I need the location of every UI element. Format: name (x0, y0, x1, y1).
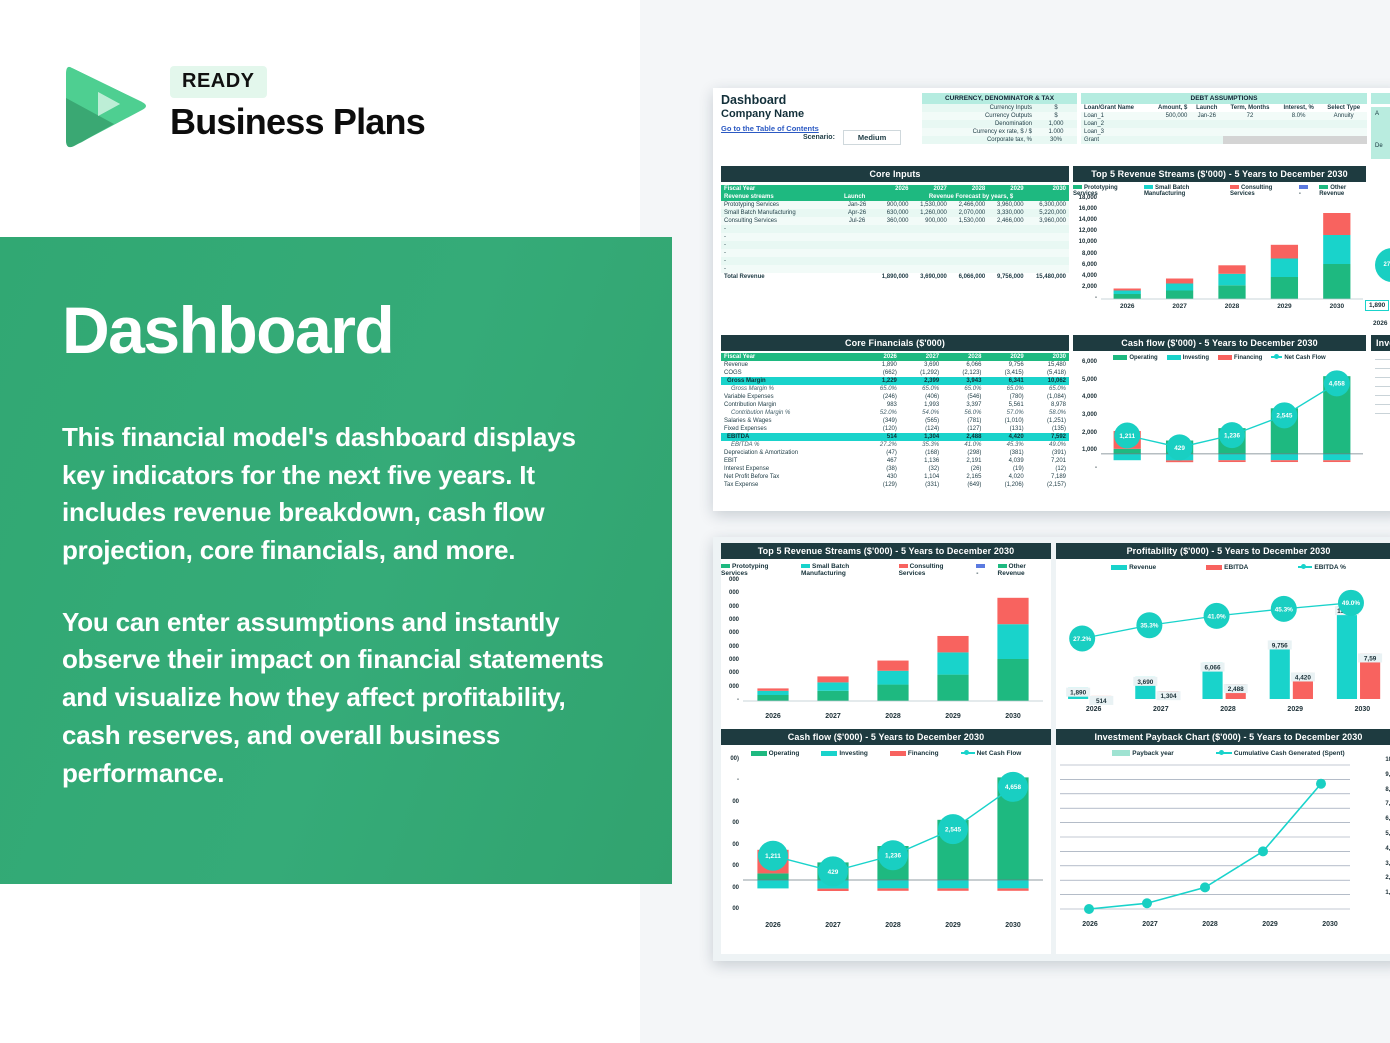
svg-text:2,545: 2,545 (1276, 413, 1292, 420)
cell: (298) (942, 449, 984, 457)
chart-plot-cashflow-2: 00)-000000000000 1,2114291,2362,5454,658… (721, 760, 1051, 945)
axis-tick: 12,000 (1079, 228, 1097, 234)
core-financials-table: Fiscal Year 2026 2027 2028 2029 2030 Rev… (721, 353, 1069, 489)
cell: 49.0% (1027, 441, 1069, 449)
core-financials-title: Core Financials ($'000) (721, 335, 1069, 351)
axis-tick: 2,000 (1082, 430, 1097, 436)
cell: 2,165 (942, 473, 984, 481)
year-col: 2026 (861, 353, 900, 361)
hero-panel: Dashboard This financial model's dashboa… (0, 237, 672, 884)
cell: (1,292) (900, 369, 942, 377)
axis-tick: 18,000 (1079, 195, 1097, 201)
table-row[interactable]: COGS(662)(1,292)(2,123)(3,415)(5,418) (721, 369, 1069, 377)
axis-tick: 00 (732, 799, 739, 805)
year-col: 2026 (873, 185, 911, 193)
table-row[interactable]: Depreciation & Amortization(47)(168)(298… (721, 449, 1069, 457)
svg-text:514: 514 (1096, 698, 1107, 705)
ss-title: Dashboard (721, 94, 819, 108)
row-label: Revenue (721, 361, 861, 369)
cur-value[interactable]: $ (1035, 104, 1077, 112)
cell: (131) (984, 425, 1026, 433)
cell: (129) (861, 481, 900, 489)
cell: 1,104 (900, 473, 942, 481)
cell: 45.3% (984, 441, 1026, 449)
axis-tick: 000 (729, 684, 739, 690)
debt-table: Loan/Grant Name Amount, $ Launch Term, M… (1081, 104, 1367, 144)
cell: (38) (861, 465, 900, 473)
cell: (1,251) (1027, 417, 1069, 425)
currency-table: Currency Inputs$ Currency Outputs$ Denom… (922, 104, 1077, 144)
core-inputs-title: Core Inputs (721, 166, 1069, 182)
table-row[interactable]: EBITDA5141,3042,4884,4207,592 (721, 433, 1069, 441)
cell: (32) (900, 465, 942, 473)
axis-label: 2030 (1300, 921, 1360, 928)
table-row[interactable]: - (721, 257, 1069, 265)
axis-tick: 8,000 (1082, 251, 1097, 257)
legend-item: Cumulative Cash Generated (Spent) (1216, 750, 1345, 757)
cell: 8,978 (1027, 401, 1069, 409)
axis-tick: 3,00 (1385, 861, 1390, 867)
core-inputs-table: Fiscal Year 2026 2027 2028 2029 2030 Rev… (721, 185, 1069, 281)
cell: (662) (861, 369, 900, 377)
debt-row[interactable]: Loan_1 500,000 Jan-26 72 8.0% Annuity (1081, 112, 1367, 120)
legend-item: Payback year (1112, 750, 1174, 757)
axis-tick: 1,00 (1385, 890, 1390, 896)
year-col: 2027 (900, 353, 942, 361)
axis-tick: - (737, 697, 739, 703)
axis-tick: 00 (732, 885, 739, 891)
chart-plot-cashflow: 6,0005,0004,0003,0002,0001,000- 1,211429… (1073, 363, 1366, 493)
cell: 1,890 (861, 361, 900, 369)
cell: 630,000 (873, 209, 911, 217)
axis-tick: 2,00 (1385, 875, 1390, 881)
stream-name: - (721, 241, 841, 249)
table-row[interactable]: Revenue1,8903,6906,0669,75615,480 (721, 361, 1069, 369)
legend-item: Prototyping Services (721, 563, 792, 577)
svg-text:1,211: 1,211 (765, 853, 781, 860)
axis-label: 2027 (803, 713, 863, 720)
table-row[interactable]: - (721, 233, 1069, 241)
debt-cell: 8.0% (1277, 112, 1321, 120)
axis-tick: 4,000 (1082, 273, 1097, 279)
axis-tick: - (737, 777, 739, 783)
cell: 56.0% (942, 409, 984, 417)
cell: 65.0% (942, 385, 984, 393)
stream-launch: Jul-26 (841, 217, 873, 225)
cell: 3,943 (942, 377, 984, 385)
chart-title-investment: Investment Payback Chart ($'000) - 5 Yea… (1056, 729, 1390, 745)
year-col: 2030 (1027, 353, 1069, 361)
cell: 4,039 (984, 457, 1026, 465)
cell: 7,201 (1027, 457, 1069, 465)
launch-label: Launch (841, 193, 873, 201)
cell: 57.0% (984, 409, 1026, 417)
row-label: Interest Expense (721, 465, 861, 473)
ready-badge: READY (170, 66, 267, 98)
cell: 983 (861, 401, 900, 409)
cell: (381) (984, 449, 1026, 457)
cur-value[interactable]: 1,000 (1035, 120, 1077, 128)
axis-tick: 4,00 (1385, 846, 1390, 852)
chart-plot-profitability: 1,8905143,6901,3046,0662,4889,7564,42015… (1056, 573, 1390, 723)
axis-tick: 000 (729, 644, 739, 650)
legend-item: Small Batch Manufacturing (801, 563, 890, 577)
svg-text:4,658: 4,658 (1329, 381, 1345, 388)
ss-subtitle: Company Name (721, 108, 819, 122)
stream-name: Consulting Services (721, 217, 841, 225)
chart-title-investment-partial: Inve (1371, 335, 1390, 351)
cell: (546) (942, 393, 984, 401)
total-cell: 1,890,000 (873, 273, 911, 281)
working-row: A (1375, 111, 1390, 117)
table-row[interactable]: Salaries & Wages(349)(565)(781)(1,010)(1… (721, 417, 1069, 425)
axis-tick: - (1095, 295, 1097, 301)
chart-legend: Operating Investing Financing Net Cash F… (1073, 355, 1366, 361)
cell: 2,466,000 (988, 217, 1026, 225)
axis-label: 2029 (1258, 303, 1310, 310)
svg-text:429: 429 (1174, 445, 1185, 452)
cell: 1,530,000 (950, 217, 988, 225)
row-label: Depreciation & Amortization (721, 449, 861, 457)
cell: 6,300,000 (1027, 201, 1069, 209)
cell: (135) (1027, 425, 1069, 433)
axis-tick: 8,00 (1385, 787, 1390, 793)
table-row[interactable]: - (721, 241, 1069, 249)
svg-text:1,890: 1,890 (1070, 690, 1086, 697)
row-label: Contribution Margin (721, 401, 861, 409)
axis-tick: 4,000 (1082, 394, 1097, 400)
cur-label: Currency Outputs (922, 112, 1035, 120)
legend-item: Consulting Services (1230, 185, 1290, 197)
cur-value[interactable]: 30% (1035, 136, 1077, 144)
cell: (2,157) (1027, 481, 1069, 489)
brand-logo: READY Business Plans (62, 58, 425, 150)
table-row[interactable]: Gross Margin1,2292,3993,9436,34110,062 (721, 377, 1069, 385)
legend-item: Net Cash Flow (1271, 355, 1325, 361)
cell: 1,260,000 (911, 209, 949, 217)
table-row[interactable]: Contribution Margin9831,9933,3975,5618,9… (721, 401, 1069, 409)
debt-cell: 500,000 (1148, 112, 1190, 120)
cell: 430 (861, 473, 900, 481)
axis-label: 2029 (923, 922, 983, 929)
axis-label: 2029 (1262, 706, 1329, 713)
legend-item: Financing (890, 750, 939, 757)
hero-paragraph-2: You can enter assumptions and instantly … (62, 604, 616, 792)
forecast-label: Revenue Forecast by years, $ (873, 193, 1069, 201)
legend-item: Operating (1113, 355, 1157, 361)
cell: (47) (861, 449, 900, 457)
cur-label: Currency ex rate, $ / $ (922, 128, 1035, 136)
debt-row[interactable]: Grant (1081, 136, 1367, 144)
table-row[interactable]: EBIT4671,1362,1914,0397,201 (721, 457, 1069, 465)
axis-label: 2027 (1153, 303, 1205, 310)
table-row[interactable]: Interest Expense(38)(32)(26)(19)(12) (721, 465, 1069, 473)
dashboard-screenshot-top: Dashboard Company Name Go to the Table o… (713, 88, 1390, 511)
axis-tick: 10,000 (1079, 239, 1097, 245)
total-cell: 3,690,000 (911, 273, 949, 281)
svg-text:1,236: 1,236 (1224, 433, 1240, 440)
cell: 4,420 (984, 433, 1026, 441)
axis-tick: 00 (732, 820, 739, 826)
hero-paragraph-1: This financial model's dashboard display… (62, 419, 616, 570)
legend-item: Operating (751, 750, 800, 757)
cell: (124) (900, 425, 942, 433)
row-label: EBITDA (721, 433, 861, 441)
total-cell: 9,756,000 (988, 273, 1026, 281)
axis-tick: 000 (729, 577, 739, 583)
row-label: Contribution Margin % (721, 409, 861, 417)
svg-text:2,488: 2,488 (1228, 686, 1244, 693)
chart-title-cashflow: Cash flow ($'000) - 5 Years to December … (1073, 335, 1366, 351)
axis-label: 2028 (1194, 706, 1261, 713)
debt-cell: Loan_2 (1081, 120, 1148, 128)
cell: 5,220,000 (1027, 209, 1069, 217)
svg-text:1,304: 1,304 (1161, 693, 1177, 700)
stream-name: Small Batch Manufacturing (721, 209, 841, 217)
debt-row[interactable]: Loan_3 (1081, 128, 1367, 136)
svg-text:4,420: 4,420 (1295, 674, 1311, 681)
row-label: Fixed Expenses (721, 425, 861, 433)
axis-label: 2028 (1180, 921, 1240, 928)
row-label: EBIT (721, 457, 861, 465)
table-row[interactable]: Consulting Services Jul-26 360,000 900,0… (721, 217, 1069, 225)
scenario-label: Scenario: (803, 134, 835, 141)
table-row[interactable]: Fixed Expenses(120)(124)(127)(131)(135) (721, 425, 1069, 433)
table-row[interactable]: Variable Expenses(246)(406)(546)(780)(1,… (721, 393, 1069, 401)
revenue-streams-label: Revenue streams (721, 193, 841, 201)
cell: 1,229 (861, 377, 900, 385)
axis-label: 2030 (1311, 303, 1363, 310)
row-label: Gross Margin (721, 377, 861, 385)
table-row[interactable]: - (721, 225, 1069, 233)
axis-tick: 5,000 (1082, 377, 1097, 383)
axis-tick: 10,0 (1385, 757, 1390, 763)
cell: (168) (900, 449, 942, 457)
cell: 3,690 (900, 361, 942, 369)
svg-text:3,690: 3,690 (1137, 679, 1153, 686)
cell: 9,756 (984, 361, 1026, 369)
axis-tick: 7,00 (1385, 801, 1390, 807)
axis-label: 2027 (1127, 706, 1194, 713)
svg-text:4,658: 4,658 (1005, 784, 1021, 791)
cell: (5,418) (1027, 369, 1069, 377)
cell: 3,960,000 (988, 201, 1026, 209)
legend-item: - (976, 563, 988, 577)
axis-tick: 00 (732, 863, 739, 869)
working-block-title: WOR (1371, 93, 1390, 104)
debt-cell: Loan_1 (1081, 112, 1148, 120)
cell: 2,070,000 (950, 209, 988, 217)
axis-tick: 000 (729, 617, 739, 623)
chart-legend: Payback year Cumulative Cash Generated (… (1056, 750, 1390, 757)
axis-tick: 16,000 (1079, 206, 1097, 212)
cell: (19) (984, 465, 1026, 473)
cell: (780) (984, 393, 1026, 401)
chart-title-revenue-streams: Top 5 Revenue Streams ($'000) - 5 Years … (1073, 166, 1366, 182)
table-row[interactable]: Small Batch Manufacturing Apr-26 630,000… (721, 209, 1069, 217)
cell: (12) (1027, 465, 1069, 473)
fiscal-year-label: Fiscal Year (721, 185, 841, 193)
cell: (246) (861, 393, 900, 401)
axis-tick: 3,000 (1082, 412, 1097, 418)
cell: (349) (861, 417, 900, 425)
table-row[interactable]: Gross Margin %65.0%65.0%65.0%65.0%65.0% (721, 385, 1069, 393)
axis-label: 2028 (863, 713, 923, 720)
cell: (3,415) (984, 369, 1026, 377)
row-label: COGS (721, 369, 861, 377)
stream-name: Prototyping Services (721, 201, 841, 209)
axis-label: 2027 (1120, 921, 1180, 928)
cur-label: Currency Inputs (922, 104, 1035, 112)
axis-tick: 6,00 (1385, 816, 1390, 822)
cell: 2,399 (900, 377, 942, 385)
total-label: Total Revenue (721, 273, 841, 281)
year-col: 2029 (984, 353, 1026, 361)
cell: (1,084) (1027, 393, 1069, 401)
year-label-partial: 2026 (1373, 320, 1387, 327)
cell: (331) (900, 481, 942, 489)
svg-text:35.3%: 35.3% (1140, 623, 1158, 630)
legend-item: Revenue (1111, 564, 1156, 571)
axis-label: 2030 (983, 713, 1043, 720)
cell: 58.0% (1027, 409, 1069, 417)
table-row[interactable]: EBITDA %27.2%35.3%41.0%45.3%49.0% (721, 441, 1069, 449)
currency-block-title: CURRENCY, DENOMINATOR & TAX (922, 93, 1077, 104)
axis-tick: 6,000 (1082, 262, 1097, 268)
total-cell: 6,066,000 (950, 273, 988, 281)
total-row: Total Revenue 1,890,000 3,690,000 6,066,… (721, 273, 1069, 281)
cell: (391) (1027, 449, 1069, 457)
debt-col: Launch (1190, 104, 1223, 112)
svg-text:9,756: 9,756 (1272, 642, 1288, 649)
axis-label: 2029 (923, 713, 983, 720)
cell: 65.0% (900, 385, 942, 393)
year-col: 2027 (911, 185, 949, 193)
cur-value[interactable]: 1.000 (1035, 128, 1077, 136)
year-col: 2028 (942, 353, 984, 361)
stream-name: - (721, 225, 841, 233)
legend-item: Investing (1167, 355, 1209, 361)
cell: (120) (861, 425, 900, 433)
cell: 7,592 (1027, 433, 1069, 441)
chart-plot-investment: 10,09,008,007,006,005,004,003,002,001,00… (1056, 761, 1390, 946)
cell: 52.0% (861, 409, 900, 417)
scenario-select[interactable]: Medium (843, 130, 901, 145)
brand-name: Business Plans (170, 101, 425, 143)
cell: 6,341 (984, 377, 1026, 385)
cell: 6,066 (942, 361, 984, 369)
chart-legend: Prototyping Services Small Batch Manufac… (721, 563, 1051, 577)
axis-tick: 000 (729, 670, 739, 676)
cell: (781) (942, 417, 984, 425)
cell: 2,191 (942, 457, 984, 465)
legend-item: Investing (821, 750, 868, 757)
row-label: Salaries & Wages (721, 417, 861, 425)
working-row: De (1375, 143, 1390, 149)
table-row[interactable]: Tax Expense(129)(331)(649)(1,206)(2,157) (721, 481, 1069, 489)
cell: (1,010) (984, 417, 1026, 425)
chart-plot-revenue-streams-2: 000000000000000000000000000- 20262027202… (721, 581, 1051, 731)
cell: 1,136 (900, 457, 942, 465)
stream-launch: Jan-26 (841, 201, 873, 209)
cur-value[interactable]: $ (1035, 112, 1077, 120)
total-cell: 15,480,000 (1027, 273, 1069, 281)
axis-label: 2026 (743, 713, 803, 720)
row-label: Gross Margin % (721, 385, 861, 393)
cell: 65.0% (984, 385, 1026, 393)
table-row[interactable]: - (721, 249, 1069, 257)
svg-text:6,066: 6,066 (1205, 665, 1221, 672)
page-title: Dashboard (62, 297, 616, 363)
axis-tick: 6,000 (1082, 359, 1097, 365)
fiscal-year-label: Fiscal Year (721, 353, 861, 361)
table-row[interactable]: Contribution Margin %52.0%54.0%56.0%57.0… (721, 409, 1069, 417)
table-row[interactable]: Net Profit Before Tax4301,1042,1654,0207… (721, 473, 1069, 481)
cell: (26) (942, 465, 984, 473)
debt-row[interactable]: Loan_2 (1081, 120, 1367, 128)
row-label: EBITDA % (721, 441, 861, 449)
cell: (565) (900, 417, 942, 425)
debt-col: Select Type (1320, 104, 1367, 112)
cell: 1,304 (900, 433, 942, 441)
axis-label: 2026 (1060, 706, 1127, 713)
cell: 1,993 (900, 401, 942, 409)
axis-label: 2030 (983, 922, 1043, 929)
cell: 1,530,000 (911, 201, 949, 209)
svg-text:2,545: 2,545 (945, 827, 961, 834)
row-label: Variable Expenses (721, 393, 861, 401)
cell: 900,000 (911, 217, 949, 225)
dashboard-screenshot-bottom: Top 5 Revenue Streams ($'000) - 5 Years … (713, 537, 1390, 961)
year-col: 2030 (1027, 185, 1069, 193)
axis-tick: 5,00 (1385, 831, 1390, 837)
chart-legend: Prototyping Services Small Batch Manufac… (1073, 185, 1366, 197)
svg-text:429: 429 (828, 869, 839, 876)
chart-legend: Operating Investing Financing Net Cash F… (721, 750, 1051, 757)
axis-tick: 9,00 (1385, 772, 1390, 778)
year-col: 2029 (988, 185, 1026, 193)
cell: (406) (900, 393, 942, 401)
cell: 7,189 (1027, 473, 1069, 481)
axis-tick: 000 (729, 604, 739, 610)
slide-canvas: READY Business Plans Dashboard This fina… (0, 0, 1390, 1043)
axis-tick: 000 (729, 657, 739, 663)
ebitda-pct-bubble-partial: 27.2% (1375, 248, 1390, 282)
year-col: 2028 (950, 185, 988, 193)
cell: 467 (861, 457, 900, 465)
legend-item: EBITDA % (1298, 564, 1346, 571)
cur-label: Denomination (922, 120, 1035, 128)
chart-legend: Revenue EBITDA EBITDA % (1056, 564, 1390, 571)
axis-tick: - (1095, 465, 1097, 471)
table-row[interactable]: Prototyping Services Jan-26 900,000 1,53… (721, 201, 1069, 209)
svg-text:45.3%: 45.3% (1275, 606, 1293, 613)
table-row[interactable]: - (721, 265, 1069, 273)
row-label: Tax Expense (721, 481, 861, 489)
cell: 54.0% (900, 409, 942, 417)
stream-name: - (721, 233, 841, 241)
cur-label: Corporate tax, % (922, 136, 1035, 144)
cell: (649) (942, 481, 984, 489)
play-triangle-logo-icon (62, 58, 152, 150)
cell: 65.0% (861, 385, 900, 393)
axis-tick: 14,000 (1079, 217, 1097, 223)
cell: 27.2% (861, 441, 900, 449)
debt-col: Loan/Grant Name (1081, 104, 1148, 112)
chart-title-profitability: Profitability ($'000) - 5 Years to Decem… (1056, 543, 1390, 559)
legend-item: - (1299, 185, 1310, 197)
cell: (127) (942, 425, 984, 433)
